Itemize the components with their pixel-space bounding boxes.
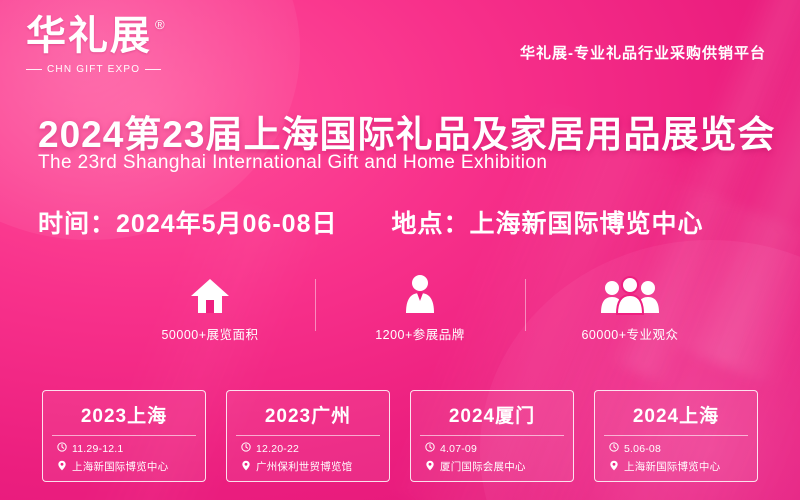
edition-date: 4.07-09 bbox=[440, 443, 477, 455]
edition-city: 2023上海 bbox=[52, 395, 196, 436]
edition-city: 2024上海 bbox=[604, 395, 748, 436]
edition-card-2023-shanghai[interactable]: 2023上海 11.29-12.1 上海新国际博览中心 bbox=[42, 390, 206, 482]
clock-icon bbox=[609, 442, 619, 455]
registered-trademark-icon: ® bbox=[155, 18, 167, 31]
stat-divider bbox=[315, 279, 316, 331]
logo-subtitle: CHN GIFT EXPO bbox=[26, 64, 194, 75]
house-icon bbox=[120, 270, 300, 316]
event-meta: 时间： 2024年5月06-08日 地点： 上海新国际博览中心 bbox=[38, 204, 770, 240]
edition-card-2024-shanghai[interactable]: 2024上海 5.06-08 上海新国际博览中心 bbox=[594, 390, 758, 482]
clock-icon bbox=[57, 442, 67, 455]
edition-venue: 厦门国际会展中心 bbox=[440, 459, 526, 474]
stats-row: 50000+展览面积 1200+参展品牌 bbox=[120, 270, 720, 343]
event-poster: 华礼展 ® CHN GIFT EXPO 华礼展-专业礼品行业采购供销平台 202… bbox=[0, 0, 800, 500]
place-value: 上海新国际博览中心 bbox=[470, 204, 704, 240]
rule-right-icon bbox=[145, 69, 161, 70]
clock-icon bbox=[241, 442, 251, 455]
edition-venue: 广州保利世贸博览馆 bbox=[256, 459, 352, 474]
stat-item: 1200+参展品牌 bbox=[330, 270, 510, 343]
brand-logo: 华礼展 ® CHN GIFT EXPO bbox=[26, 16, 194, 75]
edition-venue-line: 广州保利世贸博览馆 bbox=[227, 455, 389, 474]
edition-city: 2023广州 bbox=[236, 395, 380, 436]
location-pin-icon bbox=[425, 460, 435, 474]
location-pin-icon bbox=[241, 460, 251, 474]
edition-city: 2024厦门 bbox=[420, 395, 564, 436]
logo-wordmark: 华礼展 ® bbox=[26, 16, 194, 56]
rule-left-icon bbox=[26, 69, 42, 70]
edition-date: 12.20-22 bbox=[256, 443, 299, 455]
edition-date-line: 5.06-08 bbox=[595, 436, 757, 455]
clock-icon bbox=[425, 442, 435, 455]
event-title-en: The 23rd Shanghai International Gift and… bbox=[38, 152, 547, 174]
edition-card-2023-guangzhou[interactable]: 2023广州 12.20-22 广州保利世贸博览馆 bbox=[226, 390, 390, 482]
location-pin-icon bbox=[57, 460, 67, 474]
stat-text: 50000+展览面积 bbox=[120, 324, 300, 343]
edition-date-line: 12.20-22 bbox=[227, 436, 389, 455]
logo-text: 华礼展 bbox=[26, 16, 152, 56]
stat-text: 1200+参展品牌 bbox=[330, 324, 510, 343]
edition-date: 11.29-12.1 bbox=[72, 443, 123, 455]
logo-subtitle-text: CHN GIFT EXPO bbox=[47, 64, 140, 75]
edition-date: 5.06-08 bbox=[624, 443, 661, 455]
time-label: 时间： bbox=[38, 204, 116, 240]
stat-text: 60000+专业观众 bbox=[540, 324, 720, 343]
edition-cards: 2023上海 11.29-12.1 上海新国际博览中心 bbox=[42, 390, 758, 482]
time-value: 2024年5月06-08日 bbox=[116, 204, 337, 240]
brand-tagline: 华礼展-专业礼品行业采购供销平台 bbox=[520, 42, 766, 63]
event-title-cn: 2024第23届上海国际礼品及家居用品展览会 bbox=[38, 104, 775, 158]
poster-header: 华礼展 ® CHN GIFT EXPO 华礼展-专业礼品行业采购供销平台 bbox=[0, 0, 800, 88]
edition-venue-line: 厦门国际会展中心 bbox=[411, 455, 573, 474]
person-icon bbox=[330, 270, 510, 316]
edition-venue: 上海新国际博览中心 bbox=[72, 459, 168, 474]
edition-date-line: 11.29-12.1 bbox=[43, 436, 205, 455]
edition-venue: 上海新国际博览中心 bbox=[624, 459, 720, 474]
place-label: 地点： bbox=[391, 204, 469, 240]
edition-venue-line: 上海新国际博览中心 bbox=[595, 455, 757, 474]
stat-divider bbox=[525, 279, 526, 331]
people-group-icon bbox=[540, 270, 720, 316]
edition-date-line: 4.07-09 bbox=[411, 436, 573, 455]
stat-item: 60000+专业观众 bbox=[540, 270, 720, 343]
location-pin-icon bbox=[609, 460, 619, 474]
stat-item: 50000+展览面积 bbox=[120, 270, 300, 343]
edition-card-2024-xiamen[interactable]: 2024厦门 4.07-09 厦门国际会展中心 bbox=[410, 390, 574, 482]
edition-venue-line: 上海新国际博览中心 bbox=[43, 455, 205, 474]
